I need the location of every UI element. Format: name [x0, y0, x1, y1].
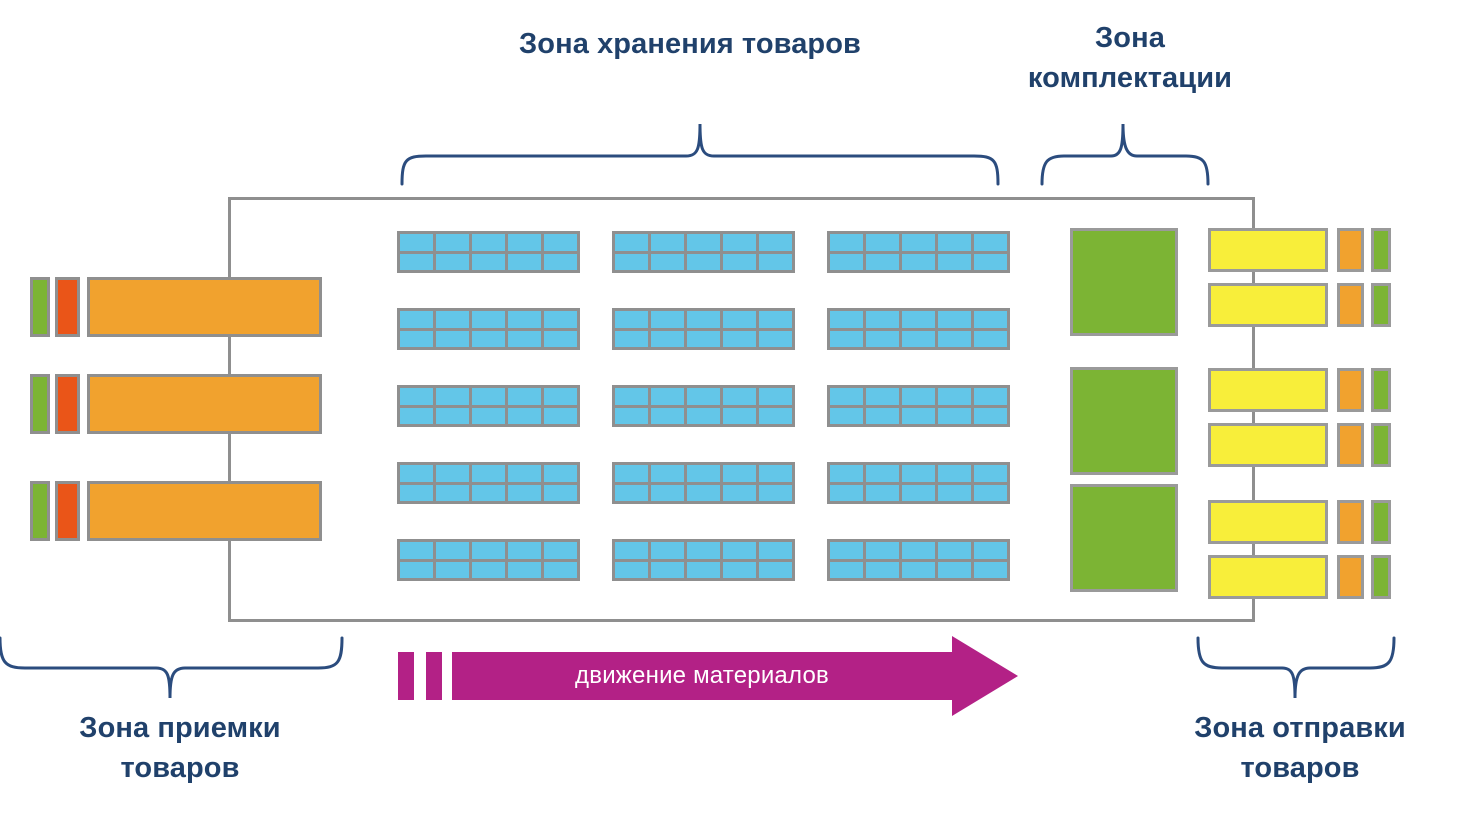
- storage-rack-cell[interactable]: [508, 234, 541, 251]
- storage-rack-cell[interactable]: [866, 254, 899, 271]
- storage-rack-cell[interactable]: [400, 311, 433, 328]
- storage-rack-cell[interactable]: [400, 254, 433, 271]
- shipping-strip-green: [1371, 500, 1391, 544]
- storage-rack-cell[interactable]: [544, 465, 577, 482]
- storage-rack-cell[interactable]: [651, 254, 684, 271]
- storage-rack-cell[interactable]: [723, 234, 756, 251]
- storage-rack-cell[interactable]: [508, 254, 541, 271]
- storage-rack-cell[interactable]: [830, 485, 863, 502]
- receiving-strip-red: [55, 481, 80, 541]
- storage-rack-cell[interactable]: [544, 331, 577, 348]
- storage-rack-cell[interactable]: [938, 542, 971, 559]
- storage-rack-cell[interactable]: [544, 311, 577, 328]
- storage-rack[interactable]: [612, 385, 795, 427]
- storage-rack-cell[interactable]: [472, 465, 505, 482]
- storage-rack-cell[interactable]: [974, 485, 1007, 502]
- storage-rack-cell[interactable]: [902, 254, 935, 271]
- storage-rack-cell[interactable]: [508, 408, 541, 425]
- arrow-right-icon: [452, 636, 1018, 716]
- storage-rack-cell[interactable]: [830, 388, 863, 405]
- storage-rack-cell[interactable]: [830, 465, 863, 482]
- shipping-strip-green: [1371, 283, 1391, 327]
- storage-rack-cell[interactable]: [938, 388, 971, 405]
- receiving-strip-red: [55, 277, 80, 337]
- storage-rack-cell[interactable]: [436, 388, 469, 405]
- storage-rack-cell[interactable]: [400, 485, 433, 502]
- storage-rack-cell[interactable]: [866, 311, 899, 328]
- storage-rack-cell[interactable]: [651, 311, 684, 328]
- storage-rack-cell[interactable]: [723, 254, 756, 271]
- storage-rack-cell[interactable]: [436, 254, 469, 271]
- storage-rack[interactable]: [612, 308, 795, 350]
- storage-rack-cell[interactable]: [723, 485, 756, 502]
- storage-rack-cell[interactable]: [759, 562, 792, 579]
- storage-rack-cell[interactable]: [544, 562, 577, 579]
- storage-rack-cell[interactable]: [759, 542, 792, 559]
- shipping-strip-orange: [1337, 423, 1364, 467]
- shipping-strip-orange: [1337, 228, 1364, 272]
- shipping-strip-orange: [1337, 555, 1364, 599]
- storage-rack-cell[interactable]: [938, 331, 971, 348]
- storage-rack-cell[interactable]: [400, 465, 433, 482]
- storage-rack-cell[interactable]: [759, 465, 792, 482]
- curly-brace-up-icon-picking: [1040, 122, 1210, 186]
- receiving-bay: [87, 481, 322, 541]
- storage-rack-cell[interactable]: [544, 234, 577, 251]
- storage-rack-cell[interactable]: [508, 465, 541, 482]
- shipping-strip-green: [1371, 228, 1391, 272]
- storage-rack[interactable]: [397, 308, 580, 350]
- storage-rack-cell[interactable]: [938, 408, 971, 425]
- storage-rack-cell[interactable]: [723, 388, 756, 405]
- storage-rack-cell[interactable]: [544, 388, 577, 405]
- storage-rack-cell[interactable]: [615, 465, 648, 482]
- storage-rack-cell[interactable]: [759, 485, 792, 502]
- storage-rack-cell[interactable]: [902, 408, 935, 425]
- storage-rack-cell[interactable]: [436, 408, 469, 425]
- storage-rack-cell[interactable]: [544, 542, 577, 559]
- receiving-strip-green: [30, 277, 50, 337]
- storage-rack-cell[interactable]: [651, 542, 684, 559]
- storage-rack-cell[interactable]: [687, 562, 720, 579]
- shipping-dock[interactable]: [1208, 368, 1391, 412]
- storage-rack-cell[interactable]: [687, 542, 720, 559]
- shipping-bay: [1208, 555, 1328, 599]
- storage-rack-cell[interactable]: [830, 562, 863, 579]
- storage-rack-cell[interactable]: [866, 234, 899, 251]
- storage-rack-cell[interactable]: [974, 408, 1007, 425]
- storage-rack-cell[interactable]: [902, 388, 935, 405]
- storage-rack-cell[interactable]: [472, 408, 505, 425]
- storage-rack-cell[interactable]: [544, 408, 577, 425]
- storage-rack-cell[interactable]: [759, 234, 792, 251]
- storage-rack[interactable]: [827, 539, 1010, 581]
- picking-block[interactable]: [1070, 228, 1178, 336]
- shipping-strip-green: [1371, 368, 1391, 412]
- shipping-bay: [1208, 228, 1328, 272]
- storage-rack-cell[interactable]: [830, 254, 863, 271]
- storage-rack-cell[interactable]: [615, 562, 648, 579]
- storage-rack-cell[interactable]: [866, 465, 899, 482]
- storage-rack-cell[interactable]: [615, 254, 648, 271]
- storage-rack-cell[interactable]: [902, 331, 935, 348]
- storage-rack[interactable]: [827, 308, 1010, 350]
- storage-rack[interactable]: [397, 539, 580, 581]
- storage-rack-cell[interactable]: [723, 465, 756, 482]
- curly-brace-up-icon-storage: [400, 122, 1000, 186]
- storage-rack-cell[interactable]: [436, 311, 469, 328]
- receiving-strip-green: [30, 481, 50, 541]
- storage-rack-cell[interactable]: [615, 234, 648, 251]
- storage-rack-grid: [397, 231, 1010, 582]
- storage-rack-cell[interactable]: [759, 254, 792, 271]
- storage-rack-cell[interactable]: [400, 234, 433, 251]
- storage-rack-cell[interactable]: [508, 331, 541, 348]
- storage-rack-cell[interactable]: [902, 311, 935, 328]
- storage-rack-cell[interactable]: [759, 331, 792, 348]
- storage-rack[interactable]: [397, 385, 580, 427]
- storage-rack-cell[interactable]: [723, 542, 756, 559]
- storage-rack[interactable]: [397, 462, 580, 504]
- shipping-bay: [1208, 368, 1328, 412]
- storage-rack-cell[interactable]: [974, 542, 1007, 559]
- storage-rack-cell[interactable]: [687, 485, 720, 502]
- storage-rack-cell[interactable]: [436, 331, 469, 348]
- storage-rack-cell[interactable]: [508, 311, 541, 328]
- storage-rack-cell[interactable]: [472, 542, 505, 559]
- storage-rack-cell[interactable]: [759, 388, 792, 405]
- storage-rack-cell[interactable]: [472, 485, 505, 502]
- storage-rack-cell[interactable]: [938, 234, 971, 251]
- storage-rack-cell[interactable]: [866, 408, 899, 425]
- storage-rack-cell[interactable]: [615, 485, 648, 502]
- storage-rack-cell[interactable]: [902, 562, 935, 579]
- storage-rack-cell[interactable]: [866, 388, 899, 405]
- shipping-dock[interactable]: [1208, 228, 1391, 272]
- storage-rack-cell[interactable]: [508, 542, 541, 559]
- flow-tick: [398, 652, 414, 700]
- storage-rack[interactable]: [827, 462, 1010, 504]
- storage-rack-cell[interactable]: [974, 331, 1007, 348]
- storage-rack-cell[interactable]: [687, 331, 720, 348]
- receiving-bay: [87, 277, 322, 337]
- storage-rack-cell[interactable]: [508, 562, 541, 579]
- storage-rack-cell[interactable]: [436, 485, 469, 502]
- zone-label-shipping: Зона отправки товаров: [1140, 708, 1460, 788]
- storage-rack-cell[interactable]: [472, 254, 505, 271]
- storage-rack[interactable]: [827, 385, 1010, 427]
- storage-rack-cell[interactable]: [723, 331, 756, 348]
- storage-rack-cell[interactable]: [472, 331, 505, 348]
- shipping-dock[interactable]: [1208, 423, 1391, 467]
- shipping-dock[interactable]: [1208, 555, 1391, 599]
- storage-rack-cell[interactable]: [866, 542, 899, 559]
- storage-rack-cell[interactable]: [400, 408, 433, 425]
- storage-rack-cell[interactable]: [974, 311, 1007, 328]
- storage-rack-cell[interactable]: [651, 562, 684, 579]
- receiving-strip-red: [55, 374, 80, 434]
- storage-rack-cell[interactable]: [830, 311, 863, 328]
- zone-label-storage: Зона хранения товаров: [430, 24, 950, 64]
- storage-rack-cell[interactable]: [759, 408, 792, 425]
- storage-rack-cell[interactable]: [615, 542, 648, 559]
- storage-rack[interactable]: [397, 231, 580, 273]
- storage-rack-cell[interactable]: [436, 542, 469, 559]
- shipping-bay: [1208, 500, 1328, 544]
- storage-rack-cell[interactable]: [938, 485, 971, 502]
- storage-rack-cell[interactable]: [651, 465, 684, 482]
- storage-rack-cell[interactable]: [974, 465, 1007, 482]
- flow-tick: [426, 652, 442, 700]
- storage-rack-cell[interactable]: [902, 234, 935, 251]
- storage-rack-cell[interactable]: [830, 331, 863, 348]
- storage-rack-cell[interactable]: [400, 542, 433, 559]
- storage-rack[interactable]: [827, 231, 1010, 273]
- storage-rack-cell[interactable]: [687, 234, 720, 251]
- storage-rack-cell[interactable]: [508, 485, 541, 502]
- storage-rack-cell[interactable]: [436, 562, 469, 579]
- storage-rack-cell[interactable]: [615, 331, 648, 348]
- receiving-dock[interactable]: [30, 277, 322, 337]
- storage-rack-cell[interactable]: [687, 254, 720, 271]
- storage-rack-cell[interactable]: [902, 485, 935, 502]
- zone-label-picking: Зона комплектации: [1002, 18, 1258, 98]
- storage-rack-cell[interactable]: [938, 311, 971, 328]
- storage-rack-cell[interactable]: [400, 388, 433, 405]
- storage-rack-cell[interactable]: [938, 562, 971, 579]
- receiving-dock[interactable]: [30, 374, 322, 434]
- storage-rack-cell[interactable]: [400, 331, 433, 348]
- shipping-strip-orange: [1337, 283, 1364, 327]
- storage-rack-cell[interactable]: [651, 388, 684, 405]
- shipping-dock[interactable]: [1208, 283, 1391, 327]
- storage-rack-cell[interactable]: [687, 388, 720, 405]
- storage-rack[interactable]: [612, 231, 795, 273]
- storage-rack-cell[interactable]: [938, 465, 971, 482]
- storage-rack-cell[interactable]: [651, 485, 684, 502]
- shipping-strip-green: [1371, 555, 1391, 599]
- storage-rack-cell[interactable]: [723, 311, 756, 328]
- storage-rack-cell[interactable]: [544, 485, 577, 502]
- shipping-strip-green: [1371, 423, 1391, 467]
- shipping-strip-orange: [1337, 368, 1364, 412]
- storage-rack-cell[interactable]: [938, 254, 971, 271]
- storage-rack-cell[interactable]: [723, 408, 756, 425]
- receiving-bay: [87, 374, 322, 434]
- receiving-dock[interactable]: [30, 481, 322, 541]
- storage-rack-cell[interactable]: [974, 388, 1007, 405]
- storage-rack-cell[interactable]: [651, 234, 684, 251]
- storage-rack-cell[interactable]: [759, 311, 792, 328]
- curly-brace-down-icon-shipping: [1196, 636, 1396, 700]
- storage-rack-cell[interactable]: [544, 254, 577, 271]
- storage-rack[interactable]: [612, 539, 795, 581]
- shipping-dock[interactable]: [1208, 500, 1391, 544]
- storage-rack[interactable]: [612, 462, 795, 504]
- storage-rack-cell[interactable]: [436, 465, 469, 482]
- picking-block[interactable]: [1070, 484, 1178, 592]
- storage-rack-cell[interactable]: [400, 562, 433, 579]
- storage-rack-cell[interactable]: [436, 234, 469, 251]
- storage-rack-cell[interactable]: [974, 234, 1007, 251]
- storage-rack-cell[interactable]: [472, 388, 505, 405]
- storage-rack-cell[interactable]: [866, 331, 899, 348]
- storage-rack-cell[interactable]: [830, 234, 863, 251]
- storage-rack-cell[interactable]: [472, 234, 505, 251]
- storage-rack-cell[interactable]: [902, 542, 935, 559]
- picking-block[interactable]: [1070, 367, 1178, 475]
- storage-rack-cell[interactable]: [723, 562, 756, 579]
- warehouse-layout-diagram: Зона хранения товаров Зона комплектации …: [0, 0, 1478, 814]
- receiving-strip-green: [30, 374, 50, 434]
- material-flow-group: движение материалов: [398, 636, 1018, 716]
- storage-rack-cell[interactable]: [508, 388, 541, 405]
- storage-rack-cell[interactable]: [472, 562, 505, 579]
- storage-rack-cell[interactable]: [866, 485, 899, 502]
- storage-rack-cell[interactable]: [651, 408, 684, 425]
- storage-rack-cell[interactable]: [974, 254, 1007, 271]
- storage-rack-cell[interactable]: [866, 562, 899, 579]
- shipping-strip-orange: [1337, 500, 1364, 544]
- storage-rack-cell[interactable]: [974, 562, 1007, 579]
- storage-rack-cell[interactable]: [615, 388, 648, 405]
- storage-rack-cell[interactable]: [651, 331, 684, 348]
- storage-rack-cell[interactable]: [830, 408, 863, 425]
- zone-label-receiving: Зона приемки товаров: [20, 708, 340, 788]
- storage-rack-cell[interactable]: [687, 311, 720, 328]
- storage-rack-cell[interactable]: [615, 408, 648, 425]
- storage-rack-cell[interactable]: [615, 311, 648, 328]
- curly-brace-down-icon-receiving: [0, 636, 344, 700]
- storage-rack-cell[interactable]: [687, 465, 720, 482]
- storage-rack-cell[interactable]: [687, 408, 720, 425]
- shipping-bay: [1208, 283, 1328, 327]
- storage-rack-cell[interactable]: [472, 311, 505, 328]
- storage-rack-cell[interactable]: [830, 542, 863, 559]
- storage-rack-cell[interactable]: [902, 465, 935, 482]
- shipping-bay: [1208, 423, 1328, 467]
